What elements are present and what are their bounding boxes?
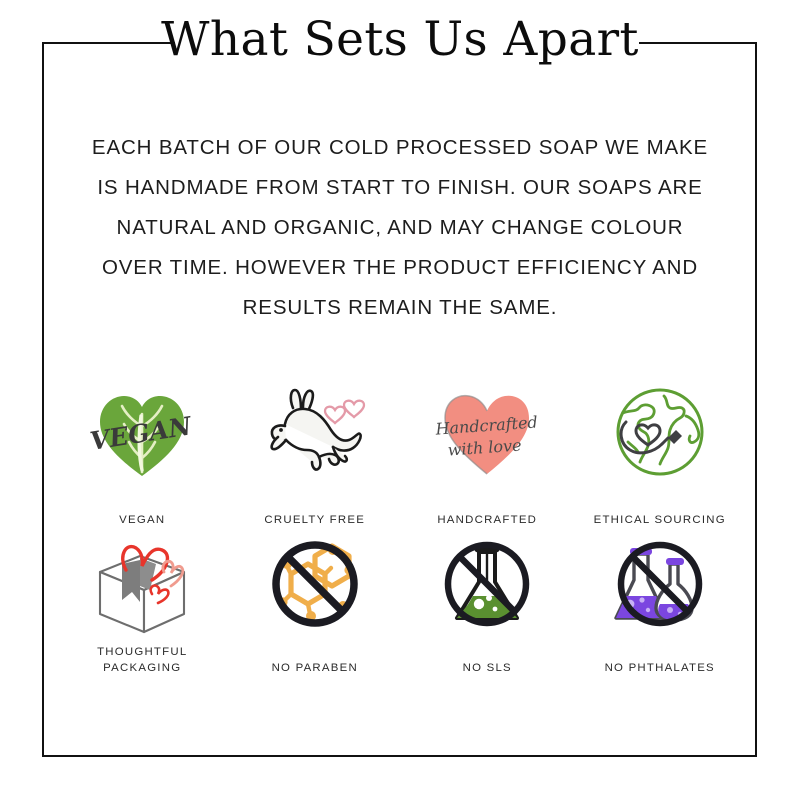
rabbit-cruelty-free-icon bbox=[259, 378, 371, 486]
feature-item-no-sls: NO SLS bbox=[401, 528, 574, 680]
feature-label-line: ETHICAL SOURCING bbox=[574, 512, 747, 528]
feature-label: VEGAN bbox=[56, 512, 229, 528]
intro-line: EACH BATCH OF OUR COLD PROCESSED SOAP WE… bbox=[62, 128, 738, 168]
no-paraben-molecule-icon bbox=[261, 528, 369, 640]
feature-label-line: NO PARABEN bbox=[229, 660, 402, 676]
frame-bottom-edge bbox=[42, 755, 757, 757]
vegan-leaf-icon: VEGAN bbox=[90, 378, 194, 486]
feature-label: THOUGHTFUL PACKAGING bbox=[56, 644, 229, 676]
feature-label-line: HANDCRAFTED bbox=[401, 512, 574, 528]
feature-label: HANDCRAFTED bbox=[401, 512, 574, 528]
feature-label: CRUELTY FREE bbox=[229, 512, 402, 528]
handcrafted-script-line2: with love bbox=[447, 435, 522, 459]
feature-label-line: VEGAN bbox=[56, 512, 229, 528]
feature-label: ETHICAL SOURCING bbox=[574, 512, 747, 528]
feature-item-cruelty-free: CRUELTY FREE bbox=[229, 378, 402, 528]
feature-label-line: CRUELTY FREE bbox=[229, 512, 402, 528]
feature-label-line: THOUGHTFUL bbox=[56, 644, 229, 660]
ethical-sourcing-globe-icon bbox=[606, 378, 714, 486]
frame-left-edge bbox=[42, 42, 44, 757]
feature-label: NO PHTHALATES bbox=[574, 660, 747, 676]
intro-line: RESULTS REMAIN THE SAME. bbox=[62, 288, 738, 328]
intro-line: NATURAL AND ORGANIC, AND MAY CHANGE COLO… bbox=[62, 208, 738, 248]
frame-right-edge bbox=[755, 42, 757, 757]
no-phthalates-flasks-icon bbox=[604, 528, 716, 640]
page-title: What Sets Us Apart bbox=[0, 0, 800, 63]
no-sls-flask-icon bbox=[433, 528, 541, 640]
intro-paragraph: EACH BATCH OF OUR COLD PROCESSED SOAP WE… bbox=[62, 128, 738, 328]
feature-label-line: PACKAGING bbox=[56, 660, 229, 676]
feature-item-ethical-sourcing: ETHICAL SOURCING bbox=[574, 378, 747, 528]
feature-label: NO SLS bbox=[401, 660, 574, 676]
intro-line: IS HANDMADE FROM START TO FINISH. OUR SO… bbox=[62, 168, 738, 208]
handcrafted-heart-icon: Handcrafted with love bbox=[431, 378, 543, 486]
feature-item-vegan: VEGAN VEGAN bbox=[56, 378, 229, 528]
feature-item-no-paraben: NO PARABEN bbox=[229, 528, 402, 680]
feature-label-line: NO SLS bbox=[401, 660, 574, 676]
thoughtful-packaging-box-icon bbox=[86, 528, 198, 640]
feature-grid: VEGAN VEGAN bbox=[56, 378, 746, 680]
intro-line: OVER TIME. HOWEVER THE PRODUCT EFFICIENC… bbox=[62, 248, 738, 288]
feature-item-thoughtful-packaging: THOUGHTFUL PACKAGING bbox=[56, 528, 229, 680]
feature-item-no-phthalates: NO PHTHALATES bbox=[574, 528, 747, 680]
feature-label-line: NO PHTHALATES bbox=[574, 660, 747, 676]
feature-label: NO PARABEN bbox=[229, 660, 402, 676]
feature-item-handcrafted: Handcrafted with love HANDCRAFTED bbox=[401, 378, 574, 528]
